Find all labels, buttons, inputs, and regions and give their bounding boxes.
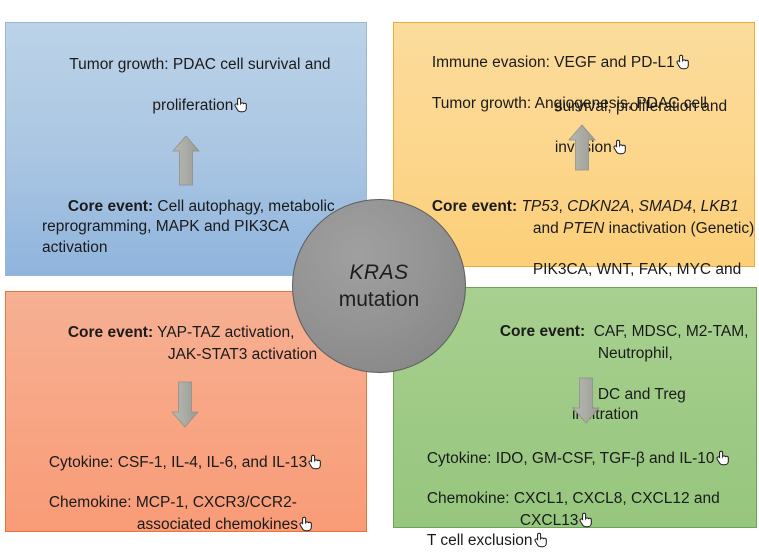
green-t-cell-exclusion-row: T cell exclusion bbox=[401, 510, 757, 558]
core-event-text-line2: Neutrophil, bbox=[598, 345, 673, 362]
pointing-hand-icon bbox=[534, 532, 547, 548]
core-event-text-line2: JAK-STAT3 activation bbox=[168, 346, 317, 363]
gene-pten: PTEN bbox=[563, 220, 604, 237]
arrow-up-icon bbox=[567, 124, 597, 172]
kras-mutation-node: KRAS mutation bbox=[292, 199, 466, 373]
chemokine-text-line2: associated chemokines bbox=[137, 516, 298, 533]
core-event-label: Core event: bbox=[432, 198, 517, 215]
salmon-chemokine-row-cont: associated chemokines bbox=[111, 494, 361, 556]
figure-canvas: Tumor growth: PDAC cell survival and pro… bbox=[0, 0, 759, 558]
tumor-growth-outcome-line2: proliferation bbox=[152, 97, 233, 114]
immune-evasion-line3: survival, proliferation and bbox=[555, 98, 727, 115]
immune-evasion-panel: Immune evasion: VEGF and PD-L1 Tumor gro… bbox=[393, 22, 755, 267]
pointing-hand-icon bbox=[308, 454, 321, 470]
core-event-label: Core event: bbox=[68, 198, 153, 215]
arrow-down-icon bbox=[170, 380, 200, 428]
pointing-hand-icon bbox=[613, 139, 626, 155]
t-cell-exclusion-text: T cell exclusion bbox=[427, 532, 533, 549]
cytokine-text: Cytokine: IDO, GM-CSF, TGF-β and IL-10 bbox=[427, 450, 715, 467]
tumor-growth-outcome-line1: Tumor growth: PDAC cell survival and bbox=[69, 56, 330, 73]
pointing-hand-icon bbox=[716, 450, 729, 466]
pointing-hand-icon bbox=[234, 97, 247, 113]
pointing-hand-icon bbox=[299, 516, 312, 532]
pointing-hand-icon bbox=[676, 54, 689, 70]
cytokine-text: Cytokine: CSF-1, IL-4, IL-6, and IL-13 bbox=[49, 454, 307, 471]
tumor-growth-outcome: Tumor growth: PDAC cell survival and pro… bbox=[24, 34, 350, 137]
immune-evasion-line1: Immune evasion: VEGF and PD-L1 bbox=[432, 54, 675, 71]
kras-mutation-label: mutation bbox=[339, 287, 420, 312]
immune-evasion-outcome-cont: survival, proliferation and invasion bbox=[529, 76, 751, 179]
core-event-molecular-line1: PIK3CA, WNT, FAK, MYC and bbox=[533, 261, 741, 278]
arrow-down-icon bbox=[571, 376, 601, 424]
kras-gene-label: KRAS bbox=[349, 260, 408, 285]
core-event-label: Core event: bbox=[68, 324, 153, 341]
